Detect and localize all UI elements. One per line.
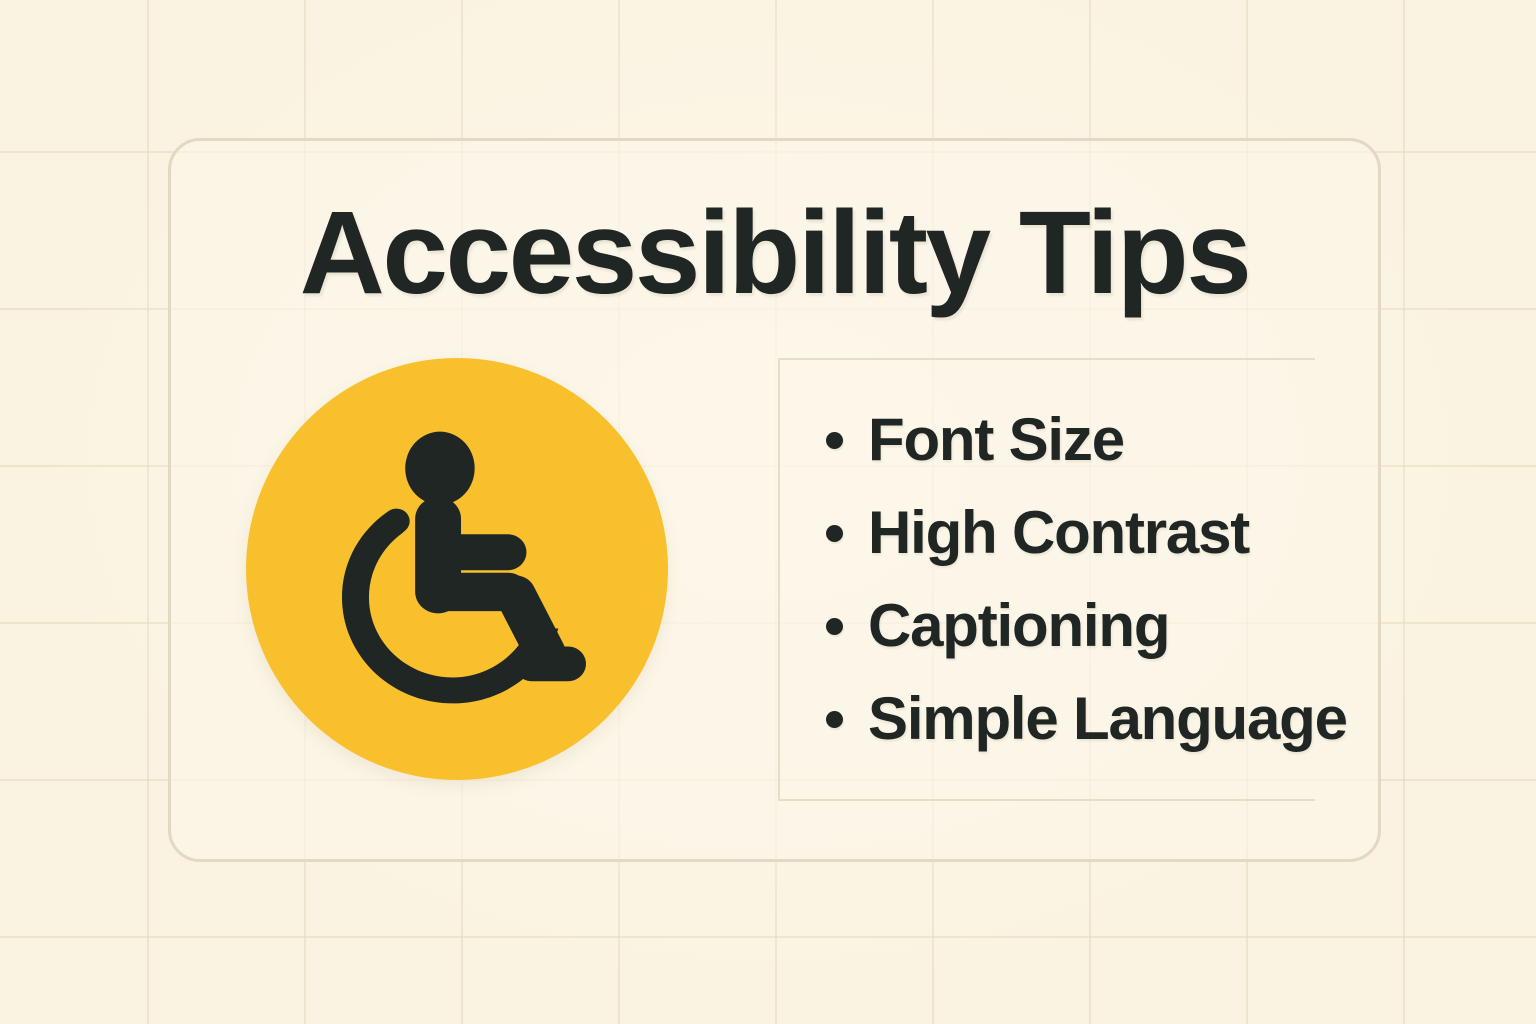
bullet-icon (826, 711, 843, 728)
bullet-icon (826, 618, 843, 635)
page-title: Accessibility Tips (171, 193, 1378, 313)
list-item: High Contrast (826, 487, 1361, 580)
tip-label: Font Size (868, 410, 1124, 470)
accessibility-icon-badge (246, 358, 668, 780)
wheelchair-accessibility-icon (302, 414, 612, 724)
tips-list: Font Size High Contrast Captioning Simpl… (826, 360, 1361, 799)
tips-panel: Font Size High Contrast Captioning Simpl… (778, 358, 1315, 801)
tip-label: Captioning (868, 596, 1169, 656)
tip-label: Simple Language (868, 689, 1347, 749)
list-item: Captioning (826, 580, 1361, 673)
list-item: Font Size (826, 394, 1361, 487)
poster-canvas: Accessibility Tips (0, 0, 1536, 1024)
poster-card: Accessibility Tips (168, 138, 1381, 862)
tip-label: High Contrast (868, 503, 1249, 563)
bullet-icon (826, 525, 843, 542)
list-item: Simple Language (826, 673, 1361, 766)
bullet-icon (826, 432, 843, 449)
